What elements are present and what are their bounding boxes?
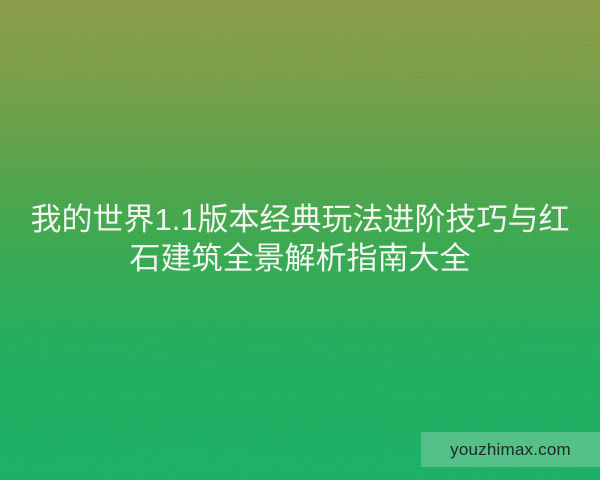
watermark-label: youzhimax.com <box>450 440 571 460</box>
watermark-badge: youzhimax.com <box>421 432 600 467</box>
page-title: 我的世界1.1版本经典玩法进阶技巧与红 石建筑全景解析指南大全 <box>0 200 600 278</box>
title-line-2: 石建筑全景解析指南大全 <box>26 239 574 278</box>
poster-canvas: 我的世界1.1版本经典玩法进阶技巧与红 石建筑全景解析指南大全 youzhima… <box>0 0 600 480</box>
title-line-1: 我的世界1.1版本经典玩法进阶技巧与红 <box>26 200 574 239</box>
